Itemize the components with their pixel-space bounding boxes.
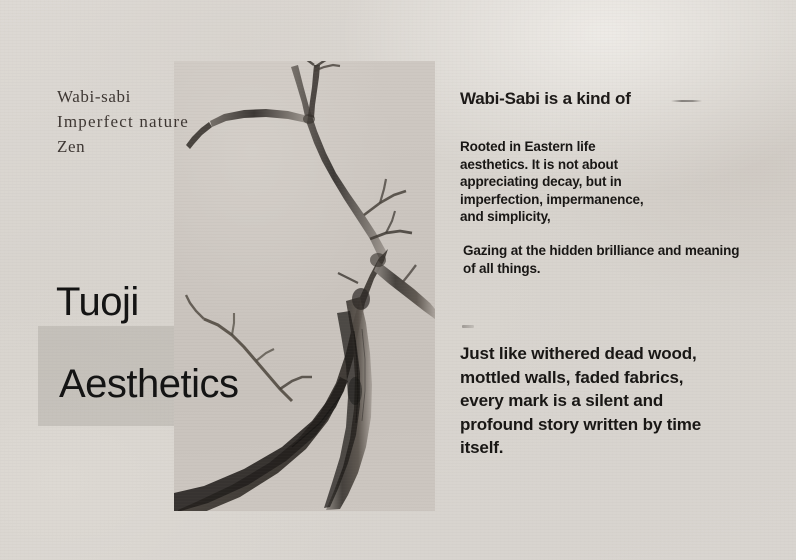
closing-line-3: every mark is a silent and (460, 389, 790, 413)
intro-line-1: Rooted in Eastern life (460, 138, 790, 156)
heading-rule-mark (671, 100, 702, 102)
closing-tick-mark (462, 325, 474, 328)
closing-paragraph: Just like withered dead wood, mottled wa… (460, 342, 790, 460)
gazing-paragraph: Gazing at the hidden brilliance and mean… (463, 242, 793, 277)
photo-panel (174, 61, 435, 511)
intro-paragraph: Rooted in Eastern life aesthetics. It is… (460, 138, 790, 226)
intro-line-5: and simplicity, (460, 208, 790, 226)
title-secondary: Aesthetics (59, 361, 239, 407)
gazing-line-1: Gazing at the hidden brilliance and mean… (463, 242, 793, 260)
dead-branch-illustration (174, 61, 435, 511)
intro-line-4: imperfection, impermanence, (460, 191, 790, 209)
intro-line-3: appreciating decay, but in (460, 173, 790, 191)
caption-line-1: Wabi-sabi (57, 84, 189, 109)
closing-line-2: mottled walls, faded fabrics, (460, 366, 790, 390)
caption-line-2: Imperfect nature (57, 109, 189, 134)
right-column: Wabi-Sabi is a kind of (460, 88, 786, 110)
closing-line-5: itself. (460, 436, 790, 460)
right-heading: Wabi-Sabi is a kind of (460, 88, 786, 110)
gazing-line-2: of all things. (463, 260, 793, 278)
closing-line-4: profound story written by time (460, 413, 790, 437)
slide-canvas: Wabi-sabi Imperfect nature Zen Tuoji Aes… (0, 0, 796, 560)
caption-line-3: Zen (57, 134, 189, 159)
closing-line-1: Just like withered dead wood, (460, 342, 790, 366)
intro-line-2: aesthetics. It is not about (460, 156, 790, 174)
serif-caption: Wabi-sabi Imperfect nature Zen (57, 84, 189, 159)
title-primary: Tuoji (56, 279, 139, 325)
